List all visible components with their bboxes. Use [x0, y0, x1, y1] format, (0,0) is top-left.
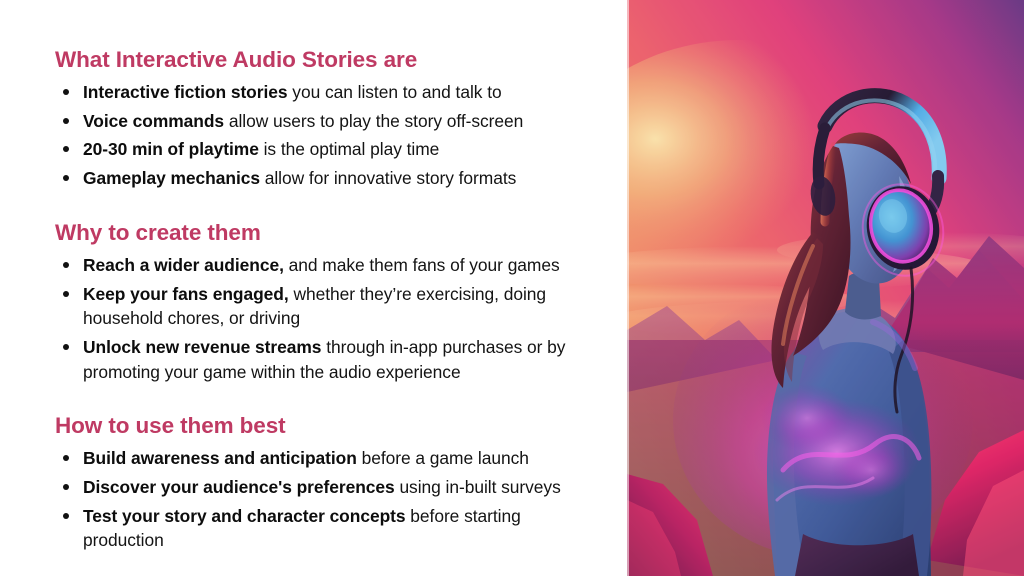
woman-with-headphones-sunset-illustration	[627, 0, 1024, 576]
section-why-to-create-them: Why to create them Reach a wider audienc…	[55, 219, 605, 385]
list-item-text: allow users to play the story off-screen	[224, 111, 523, 131]
list-item: Discover your audience's preferences usi…	[55, 475, 605, 500]
bullet-dot-icon	[63, 455, 69, 461]
list-item-text: and make them fans of your games	[284, 255, 560, 275]
section-what-interactive-audio-stories-are: What Interactive Audio Stories are Inter…	[55, 46, 605, 191]
bullet-dot-icon	[63, 118, 69, 124]
section-heading: Why to create them	[55, 219, 605, 246]
list-item: Voice commands allow users to play the s…	[55, 109, 605, 134]
list-item: Interactive fiction stories you can list…	[55, 80, 605, 105]
content-column: What Interactive Audio Stories are Inter…	[0, 0, 627, 576]
list-item: Gameplay mechanics allow for innovative …	[55, 166, 605, 191]
list-item-lead: Interactive fiction stories	[83, 82, 288, 102]
section-heading: How to use them best	[55, 412, 605, 439]
list-item: Test your story and character concepts b…	[55, 504, 605, 553]
list-item-lead: Test your story and character concepts	[83, 506, 406, 526]
section-heading: What Interactive Audio Stories are	[55, 46, 605, 73]
list-item-lead: Reach a wider audience,	[83, 255, 284, 275]
bullet-dot-icon	[63, 175, 69, 181]
section-how-to-use-them-best: How to use them best Build awareness and…	[55, 412, 605, 553]
list-item-lead: Keep your fans engaged,	[83, 284, 289, 304]
bullet-list: Interactive fiction stories you can list…	[55, 80, 605, 191]
list-item-lead: Build awareness and anticipation	[83, 448, 357, 468]
list-item-lead: Voice commands	[83, 111, 224, 131]
list-item-lead: 20-30 min of playtime	[83, 139, 259, 159]
bullet-dot-icon	[63, 513, 69, 519]
artwork-panel	[627, 0, 1024, 576]
list-item: Reach a wider audience, and make them fa…	[55, 253, 605, 278]
list-item: Keep your fans engaged, whether they’re …	[55, 282, 605, 331]
bullet-dot-icon	[63, 262, 69, 268]
bullet-list: Build awareness and anticipation before …	[55, 446, 605, 553]
list-item-lead: Gameplay mechanics	[83, 168, 260, 188]
list-item: Build awareness and anticipation before …	[55, 446, 605, 471]
list-item-text: allow for innovative story formats	[260, 168, 516, 188]
bullet-dot-icon	[63, 344, 69, 350]
bullet-list: Reach a wider audience, and make them fa…	[55, 253, 605, 385]
panel-left-edge	[627, 0, 629, 576]
list-item-lead: Unlock new revenue streams	[83, 337, 321, 357]
bullet-dot-icon	[63, 146, 69, 152]
list-item: 20-30 min of playtime is the optimal pla…	[55, 137, 605, 162]
list-item-text: you can listen to and talk to	[288, 82, 502, 102]
slide-root: What Interactive Audio Stories are Inter…	[0, 0, 1024, 576]
bullet-dot-icon	[63, 89, 69, 95]
list-item-text: using in-built surveys	[395, 477, 561, 497]
bullet-dot-icon	[63, 291, 69, 297]
list-item: Unlock new revenue streams through in-ap…	[55, 335, 605, 384]
bullet-dot-icon	[63, 484, 69, 490]
list-item-lead: Discover your audience's preferences	[83, 477, 395, 497]
list-item-text: is the optimal play time	[259, 139, 439, 159]
list-item-text: before a game launch	[357, 448, 529, 468]
